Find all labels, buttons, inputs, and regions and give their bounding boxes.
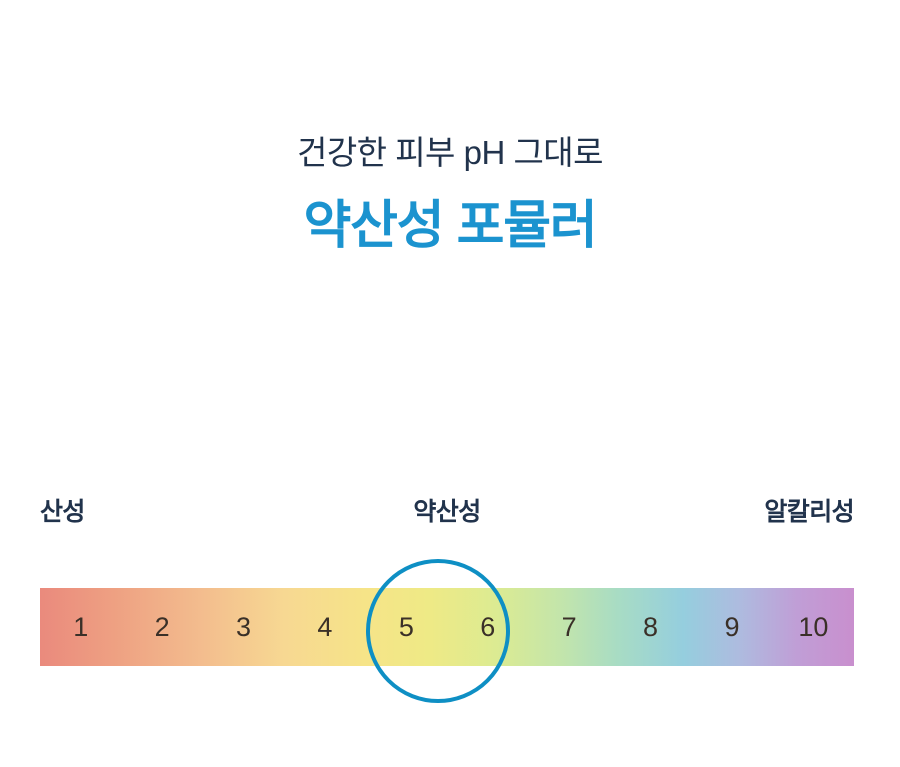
ph-legend: 산성 약산성 알칼리성	[40, 492, 854, 534]
ph-bar-wrap: 1 2 3 4 5 6 7 8 9 10	[40, 588, 854, 666]
headline-block: 건강한 피부 pH 그대로 약산성 포뮬러	[0, 132, 900, 259]
ph-number: 2	[121, 588, 202, 666]
ph-number: 1	[40, 588, 121, 666]
ph-number: 5	[366, 588, 447, 666]
ph-number: 7	[528, 588, 609, 666]
ph-number: 3	[203, 588, 284, 666]
ph-number-row: 1 2 3 4 5 6 7 8 9 10	[40, 588, 854, 666]
ph-legend-alkaline: 알칼리성	[764, 492, 854, 528]
ph-number: 10	[773, 588, 854, 666]
ph-scale-section: 산성 약산성 알칼리성 1 2 3 4 5 6 7 8 9 10	[40, 492, 854, 666]
headline-subtitle: 건강한 피부 pH 그대로	[0, 132, 900, 173]
ph-legend-weak-acidic: 약산성	[413, 492, 480, 528]
headline-title: 약산성 포뮬러	[0, 195, 900, 258]
ph-number: 8	[610, 588, 691, 666]
ph-legend-acidic: 산성	[40, 492, 85, 528]
ph-formula-banner: 건강한 피부 pH 그대로 약산성 포뮬러 산성 약산성 알칼리성 1 2 3 …	[0, 0, 900, 767]
ph-number: 9	[691, 588, 772, 666]
ph-number: 6	[447, 588, 528, 666]
ph-number: 4	[284, 588, 365, 666]
